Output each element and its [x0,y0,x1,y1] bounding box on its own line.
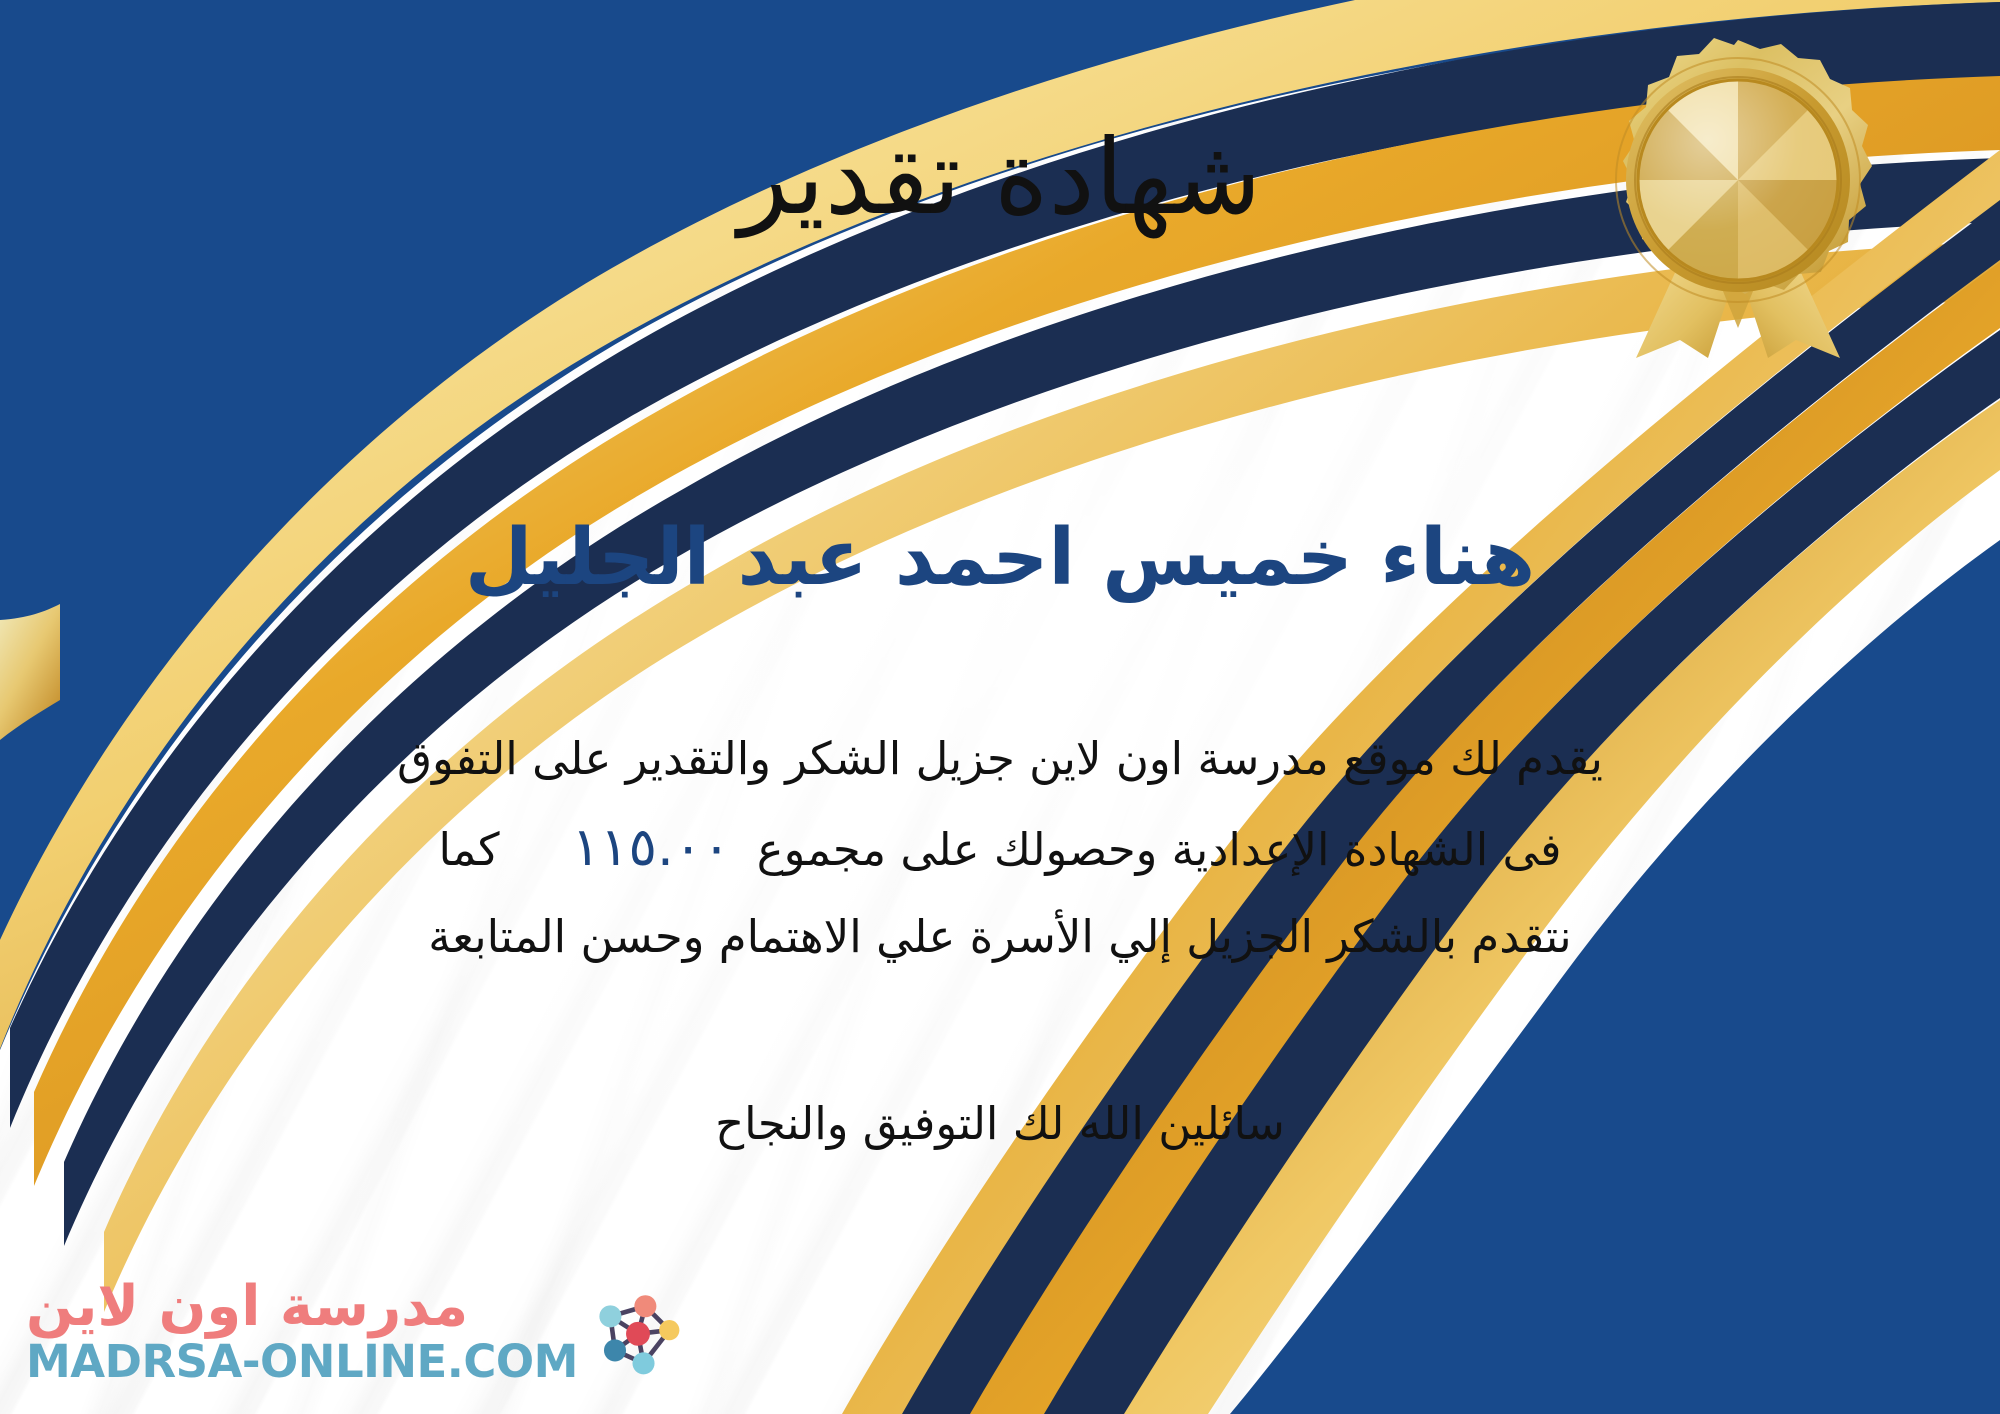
score-value: ١١٥.٠٠ [546,817,757,878]
brand-name-arabic: مدرسة اون لاين [26,1277,468,1336]
body-line-3: نتقدم بالشكر الجزيل إلي الأسرة علي الاهت… [110,896,1890,978]
page-title: شهادة تقدير [150,112,1850,242]
body-line-1: يقدم لك موقع مدرسة اون لاين جزيل الشكر و… [110,718,1890,800]
body-line-2-suffix: كما [438,823,499,876]
brand-text-block: مدرسة اون لاين MADRSA-ONLINE.COM [26,1277,578,1386]
certificate-body: يقدم لك موقع مدرسة اون لاين جزيل الشكر و… [110,718,1890,978]
body-line-2-prefix: فى الشهادة الإعدادية وحصولك على مجموع [757,823,1562,876]
network-nodes-icon [592,1286,684,1378]
certificate-page: شهادة تقدير هناء خميس احمد عبد الجليل يق… [0,0,2000,1414]
recipient-name: هناء خميس احمد عبد الجليل [150,508,1850,609]
body-line-2: فى الشهادة الإعدادية وحصولك على مجموع١١٥… [110,800,1890,896]
certificate-content: شهادة تقدير هناء خميس احمد عبد الجليل يق… [150,0,1850,1414]
brand-logo[interactable]: مدرسة اون لاين MADRSA-ONLINE.COM [26,1277,684,1386]
brand-name-english: MADRSA-ONLINE.COM [26,1337,578,1387]
closing-wish: سائلين الله لك التوفيق والنجاح [150,1088,1850,1160]
